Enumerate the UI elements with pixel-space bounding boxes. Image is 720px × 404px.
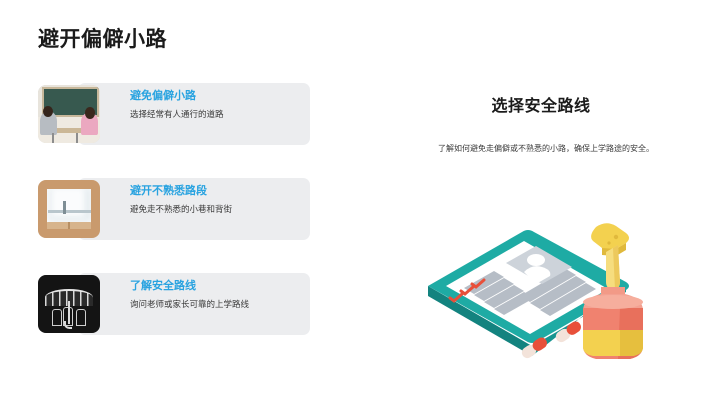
card-text: 避开不熟悉路段 避免走不熟悉的小巷和背街 — [130, 184, 302, 216]
card-text: 避免偏僻小路 选择经常有人通行的道路 — [130, 89, 302, 121]
medicine-bottle-icon — [583, 287, 643, 359]
card-description: 避免走不熟悉的小巷和背街 — [130, 204, 302, 216]
card-description: 选择经常有人通行的道路 — [130, 109, 302, 121]
card-list: 避免偏僻小路 选择经常有人通行的道路 避开不熟悉路段 — [38, 83, 310, 335]
right-panel-title: 选择安全路线 — [380, 92, 702, 116]
page-title: 避开偏僻小路 — [38, 27, 167, 52]
dropper-stem-icon — [606, 245, 620, 289]
slide-canvas: 避开偏僻小路 避免偏僻小路 — [0, 0, 720, 404]
card-thumbnail-classroom — [38, 85, 100, 143]
right-panel: 选择安全路线 了解如何避免走偏僻或不熟悉的小路，确保上学路途的安全。 — [380, 0, 720, 404]
card-description: 询问老师或家长可靠的上学路线 — [130, 299, 302, 311]
clipboard-medicine-illustration — [420, 190, 700, 375]
card-title: 了解安全路线 — [130, 279, 302, 294]
list-item[interactable]: 避开不熟悉路段 避免走不熟悉的小巷和背街 — [38, 178, 310, 240]
card-text: 了解安全路线 询问老师或家长可靠的上学路线 — [130, 279, 302, 311]
list-item[interactable]: 避免偏僻小路 选择经常有人通行的道路 — [38, 83, 310, 145]
card-title: 避开不熟悉路段 — [130, 184, 302, 199]
card-thumbnail-umbrella — [38, 275, 100, 333]
card-thumbnail-window — [38, 180, 100, 238]
card-title: 避免偏僻小路 — [130, 89, 302, 104]
list-item[interactable]: 了解安全路线 询问老师或家长可靠的上学路线 — [38, 273, 310, 335]
right-panel-subtitle: 了解如何避免走偏僻或不熟悉的小路，确保上学路途的安全。 — [390, 143, 702, 155]
